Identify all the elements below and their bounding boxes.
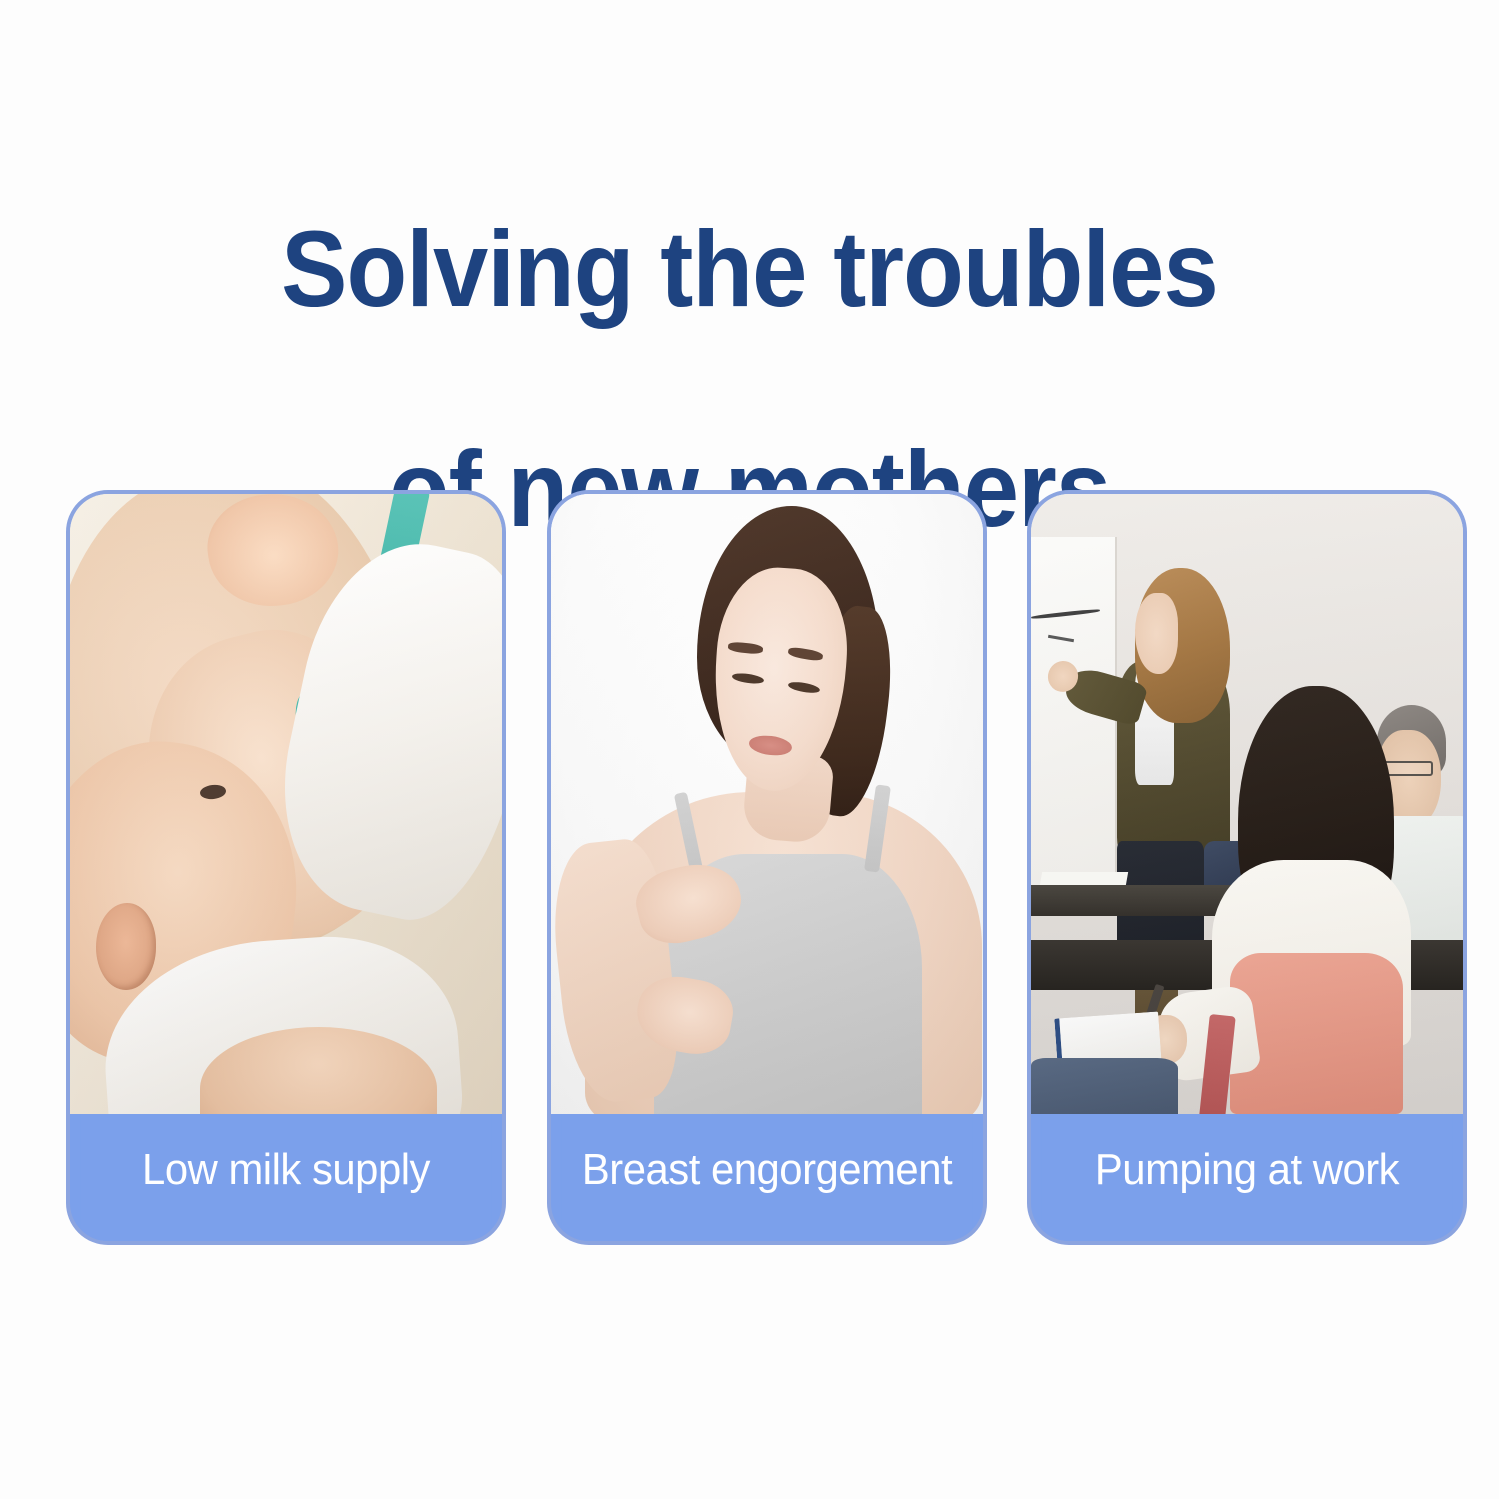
problem-cards-row: Low milk supply Breast engorgement <box>66 490 1467 1245</box>
page-title-line-1: Solving the troubles <box>60 214 1439 324</box>
card-caption-pumping-at-work: Pumping at work <box>1042 1114 1452 1241</box>
baby-ear-shape <box>96 903 156 990</box>
photo-pumping-at-work <box>1031 494 1463 1114</box>
card-pumping-at-work[interactable]: Pumping at work <box>1027 490 1467 1245</box>
photo-low-milk-supply <box>70 494 502 1114</box>
card-low-milk-supply[interactable]: Low milk supply <box>66 490 506 1245</box>
back-table-shape <box>1031 885 1247 916</box>
jeans-shape <box>1031 1058 1178 1114</box>
card-caption-low-milk-supply: Low milk supply <box>81 1114 491 1241</box>
photo-breast-engorgement <box>551 494 983 1114</box>
card-caption-breast-engorgement: Breast engorgement <box>561 1114 971 1241</box>
card-breast-engorgement[interactable]: Breast engorgement <box>547 490 987 1245</box>
presenter-face-shape <box>1135 593 1178 674</box>
